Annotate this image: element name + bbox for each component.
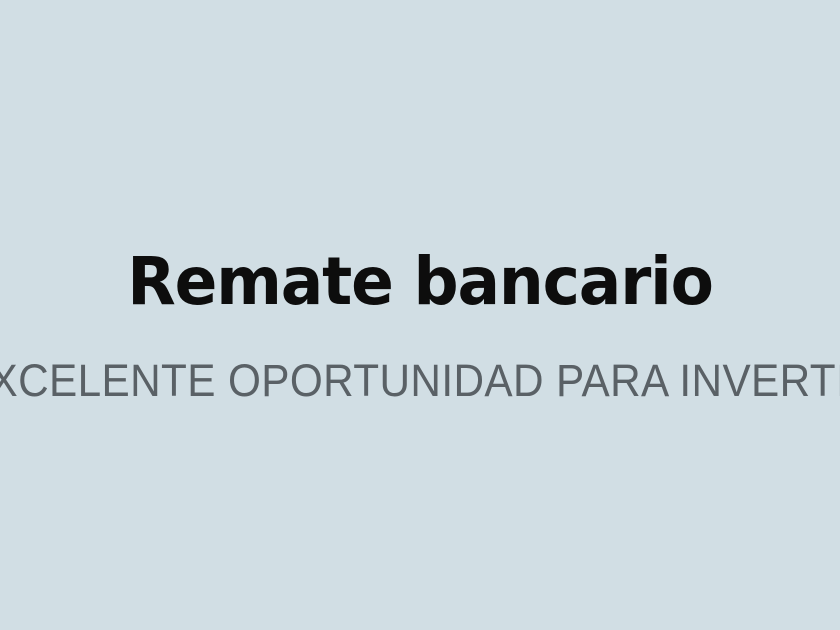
promo-banner: Remate bancario EXCELENTE OPORTUNIDAD PA… [0,0,840,630]
page-title: Remate bancario [19,249,821,315]
subtitle-clip-region: EXCELENTE OPORTUNIDAD PARA INVERTIR [0,358,840,410]
subtitle-text: EXCELENTE OPORTUNIDAD PARA INVERTIR [0,358,840,404]
